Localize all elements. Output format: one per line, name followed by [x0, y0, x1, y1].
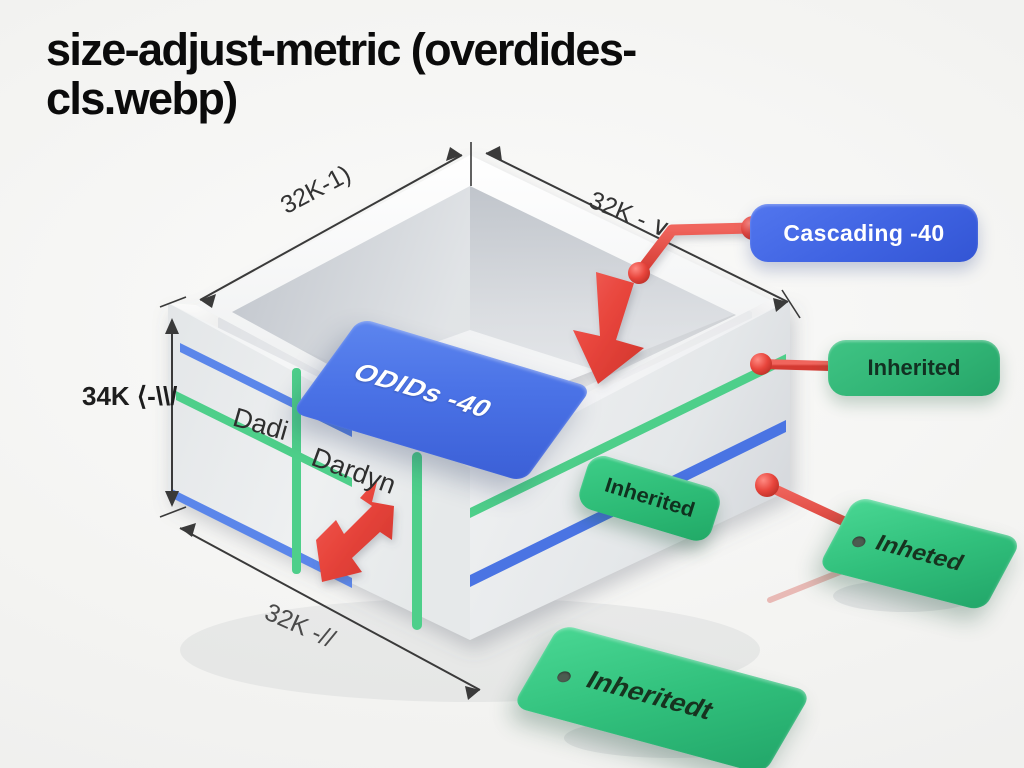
connector-cascading-joint	[628, 262, 650, 284]
badge-inherited-face-label: Inherited	[602, 474, 698, 523]
badge-cascading[interactable]: Cascading -40	[750, 204, 978, 262]
connector-inherited-mid-joint	[755, 473, 779, 497]
badge-inherited-right-label: Inherited	[868, 355, 961, 381]
tag-mid-hole-icon	[850, 535, 868, 548]
badge-cascading-label: Cascading -40	[783, 220, 944, 247]
tag-bottom-hole-icon	[555, 670, 573, 684]
tag-inherited-bottom-label: Inheritedt	[581, 666, 720, 726]
green-bar-2	[412, 452, 422, 630]
dimension-label-height: 34K ⟨-\\/	[82, 381, 177, 412]
dim-arrow-tr-a	[486, 146, 502, 161]
diagram-canvas: size-adjust-metric (overdides- cls.webp)	[0, 0, 1024, 768]
connector-inherited-right-joint	[750, 353, 772, 375]
tag-inherited-mid-label: Inheted	[870, 530, 968, 576]
dim-tick-l-bot	[160, 507, 186, 517]
badge-inherited-right[interactable]: Inherited	[828, 340, 1000, 396]
inner-panel-label: ODIDs -40	[347, 358, 499, 423]
